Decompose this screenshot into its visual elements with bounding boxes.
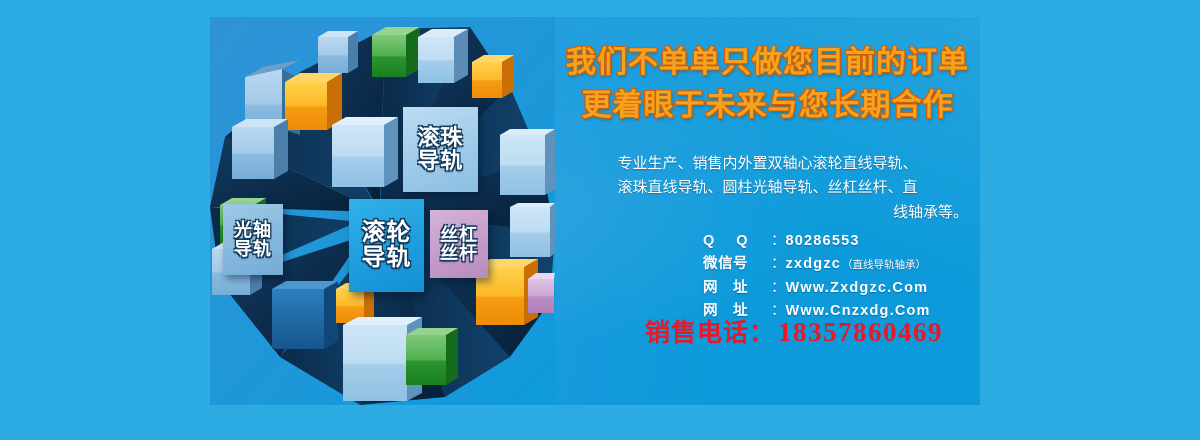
cube-label-sigang-sigan: 丝杠 丝杆: [430, 210, 488, 278]
sales-phone-number[interactable]: 18357860469: [778, 317, 943, 348]
cube: [372, 27, 420, 77]
cube-label-guangzhou-daogui: 光轴 导轨: [223, 204, 283, 275]
cube-label-gunzhu-daogui: 滚珠 导轨: [403, 107, 478, 192]
contact-list: Q Q ： 80286553 微信号 ： zxdgzc （直线导轨轴承） 网 址…: [703, 230, 973, 324]
cube: [232, 119, 288, 179]
contact-label: Q Q: [703, 230, 771, 253]
contact-separator: ：: [771, 253, 786, 276]
contact-note-wechat: （直线导轨轴承）: [842, 257, 926, 274]
cube: [510, 203, 555, 257]
page-root: 滚珠 导轨 光轴 导轨 滚轮 导轨 丝杠 丝杆 我们不单单只做您目前的订单 更着…: [0, 0, 1200, 440]
contact-row-wechat: 微信号 ： zxdgzc （直线导轨轴承）: [703, 253, 973, 276]
cube-label-line2: 导轨: [234, 240, 272, 258]
banner-copy: 我们不单单只做您目前的订单 更着眼于未来与您长期合作 专业生产、销售内外置双轴心…: [555, 17, 980, 405]
headline-line-2: 更着眼于未来与您长期合作: [555, 85, 980, 128]
intro-line-3: 线轴承等。: [565, 201, 970, 225]
headline-line-1: 我们不单单只做您目前的订单: [555, 42, 980, 85]
contact-value-website-1[interactable]: Www.Zxdgzc.Com: [786, 277, 929, 300]
contact-separator: ：: [771, 277, 786, 300]
cube-label-line2: 导轨: [362, 246, 412, 270]
cube: [500, 129, 555, 195]
sales-phone: 销售电话： 18357860469: [608, 313, 980, 349]
intro-line-2: 滚珠直线导轨、圆柱光轴导轨、丝杠丝杆、直: [565, 176, 970, 200]
intro-line-1: 专业生产、销售内外置双轴心滚轮直线导轨、: [565, 152, 970, 176]
cube: [418, 29, 468, 83]
cube: [406, 328, 458, 385]
sales-phone-label: 销售电话：: [645, 313, 775, 349]
contact-row-website-1: 网 址 ： Www.Zxdgzc.Com: [703, 277, 973, 300]
contact-label: 微信号: [703, 253, 771, 276]
cube: [272, 281, 338, 349]
contact-value-wechat[interactable]: zxdgzc: [786, 253, 842, 276]
cube-burst-artwork: 滚珠 导轨 光轴 导轨 滚轮 导轨 丝杠 丝杆: [210, 17, 555, 405]
cube-label-line2: 导轨: [417, 150, 463, 172]
banner-headline: 我们不单单只做您目前的订单 更着眼于未来与您长期合作: [555, 42, 980, 127]
promo-banner: 滚珠 导轨 光轴 导轨 滚轮 导轨 丝杠 丝杆 我们不单单只做您目前的订单 更着…: [210, 17, 980, 405]
cube: [318, 31, 358, 73]
cube: [528, 273, 555, 313]
cube: [332, 117, 398, 187]
cube-label-line1: 光轴: [234, 221, 272, 239]
contact-label: 网 址: [703, 277, 771, 300]
cube-label-line1: 滚轮: [362, 221, 412, 245]
cube-label-line1: 滚珠: [417, 127, 463, 149]
cube: [285, 73, 342, 130]
cube-label-line2: 丝杆: [440, 244, 478, 262]
cube-label-line1: 丝杠: [440, 226, 478, 244]
contact-value-qq[interactable]: 80286553: [786, 230, 860, 253]
contact-row-qq: Q Q ： 80286553: [703, 230, 973, 253]
banner-intro-paragraph: 专业生产、销售内外置双轴心滚轮直线导轨、 滚珠直线导轨、圆柱光轴导轨、丝杠丝杆、…: [565, 152, 970, 225]
cube: [472, 55, 514, 98]
contact-separator: ：: [771, 230, 786, 253]
cube-label-gunlun-daogui: 滚轮 导轨: [349, 199, 424, 292]
